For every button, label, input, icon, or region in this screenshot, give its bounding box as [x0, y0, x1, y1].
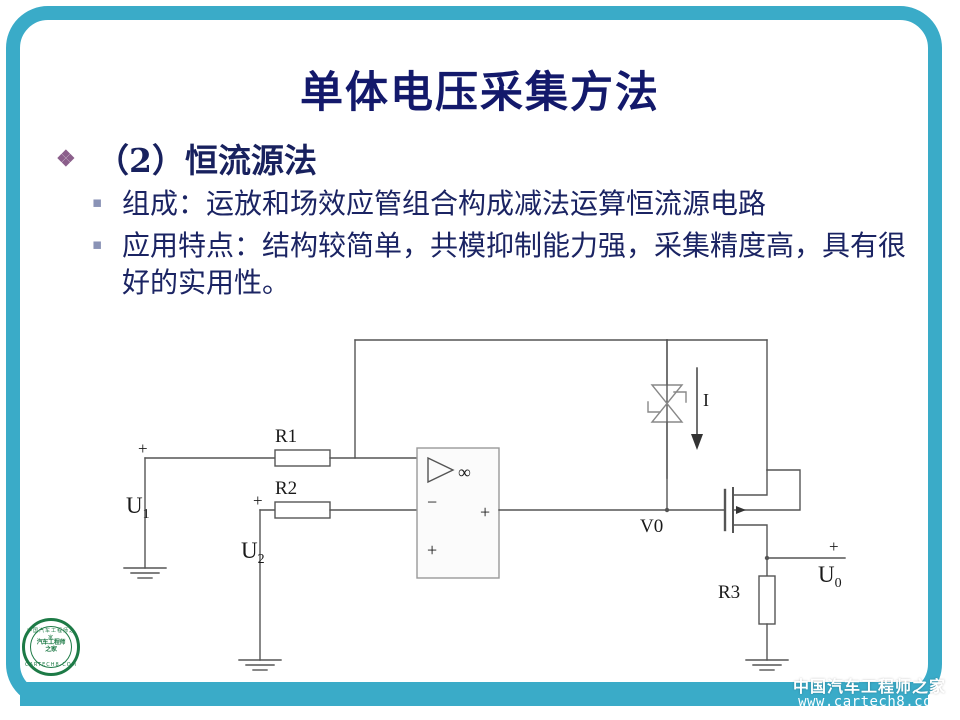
seal-center-text: 汽车工程师 之家 [34, 637, 68, 657]
label-r2: R2 [275, 478, 297, 499]
label-opamp-minus-input: − [427, 492, 437, 512]
label-u2: U2 [241, 538, 265, 567]
watermark-url: www.cartech8.com [793, 695, 946, 710]
current-arrow-head [691, 434, 703, 450]
watermark: 中国汽车工程师之家 www.cartech8.com [793, 679, 946, 710]
resistor-r1-body [275, 450, 330, 466]
label-u0: U0 [818, 562, 842, 591]
watermark-chinese-text: 中国汽车工程师之家 [793, 679, 946, 696]
slide-canvas: 单体电压采集方法 ❖ （2）恒流源法 ▪ 组成：运放和场效应管组合构成减法运算恒… [0, 0, 960, 720]
page-title: 单体电压采集方法 [0, 58, 960, 120]
resistor-r3-body [759, 576, 775, 624]
label-current-i: I [703, 390, 709, 410]
label-u1: U1 [126, 493, 150, 522]
wire-mosfet-drain [733, 470, 767, 495]
bullet-level1: ❖ （2）恒流源法 [56, 142, 916, 180]
circuit-diagram: R1 R2 R3 V0 U1 U2 U0 + + + I ∞ [100, 330, 860, 690]
bullet-level2-label: 应用特点：结构较简单，共模抑制能力强，采集精度高，具有很好的实用性。 [122, 228, 916, 301]
wire-mosfet-source [733, 525, 767, 558]
seal-arc-bottom-text: CARTECH8.COM [25, 662, 77, 668]
resistor-r2-body [275, 502, 330, 518]
diamond-bullet-icon: ❖ [56, 142, 96, 177]
bullet-level2-item: ▪ 应用特点：结构较简单，共模抑制能力强，采集精度高，具有很好的实用性。 [92, 228, 916, 301]
seal-center-line2: 之家 [45, 647, 56, 654]
bullet-list: ❖ （2）恒流源法 ▪ 组成：运放和场效应管组合构成减法运算恒流源电路 ▪ 应用… [56, 142, 916, 301]
label-opamp-plus-input: + [427, 540, 437, 560]
square-bullet-icon: ▪ [92, 228, 122, 261]
label-v0: V0 [640, 516, 663, 537]
label-u1-plus: + [138, 439, 148, 458]
organization-seal-logo: 中国汽车工程师之家 汽车工程师 之家 CARTECH8.COM [22, 618, 80, 676]
square-bullet-icon: ▪ [92, 186, 122, 219]
zener-tick-left [648, 402, 660, 412]
label-opamp-output-plus: + [480, 502, 490, 522]
label-r3: R3 [718, 582, 740, 603]
label-opamp-gain: ∞ [458, 462, 471, 482]
bullet-level2-item: ▪ 组成：运放和场效应管组合构成减法运算恒流源电路 [92, 186, 916, 222]
label-r1: R1 [275, 426, 297, 447]
bullet-level1-label: （2）恒流源法 [96, 142, 317, 180]
label-u0-plus: + [829, 537, 839, 556]
mosfet-bulk-arrow [736, 506, 746, 514]
bullet-level2-label: 组成：运放和场效应管组合构成减法运算恒流源电路 [122, 186, 916, 222]
label-u2-plus: + [253, 491, 263, 510]
